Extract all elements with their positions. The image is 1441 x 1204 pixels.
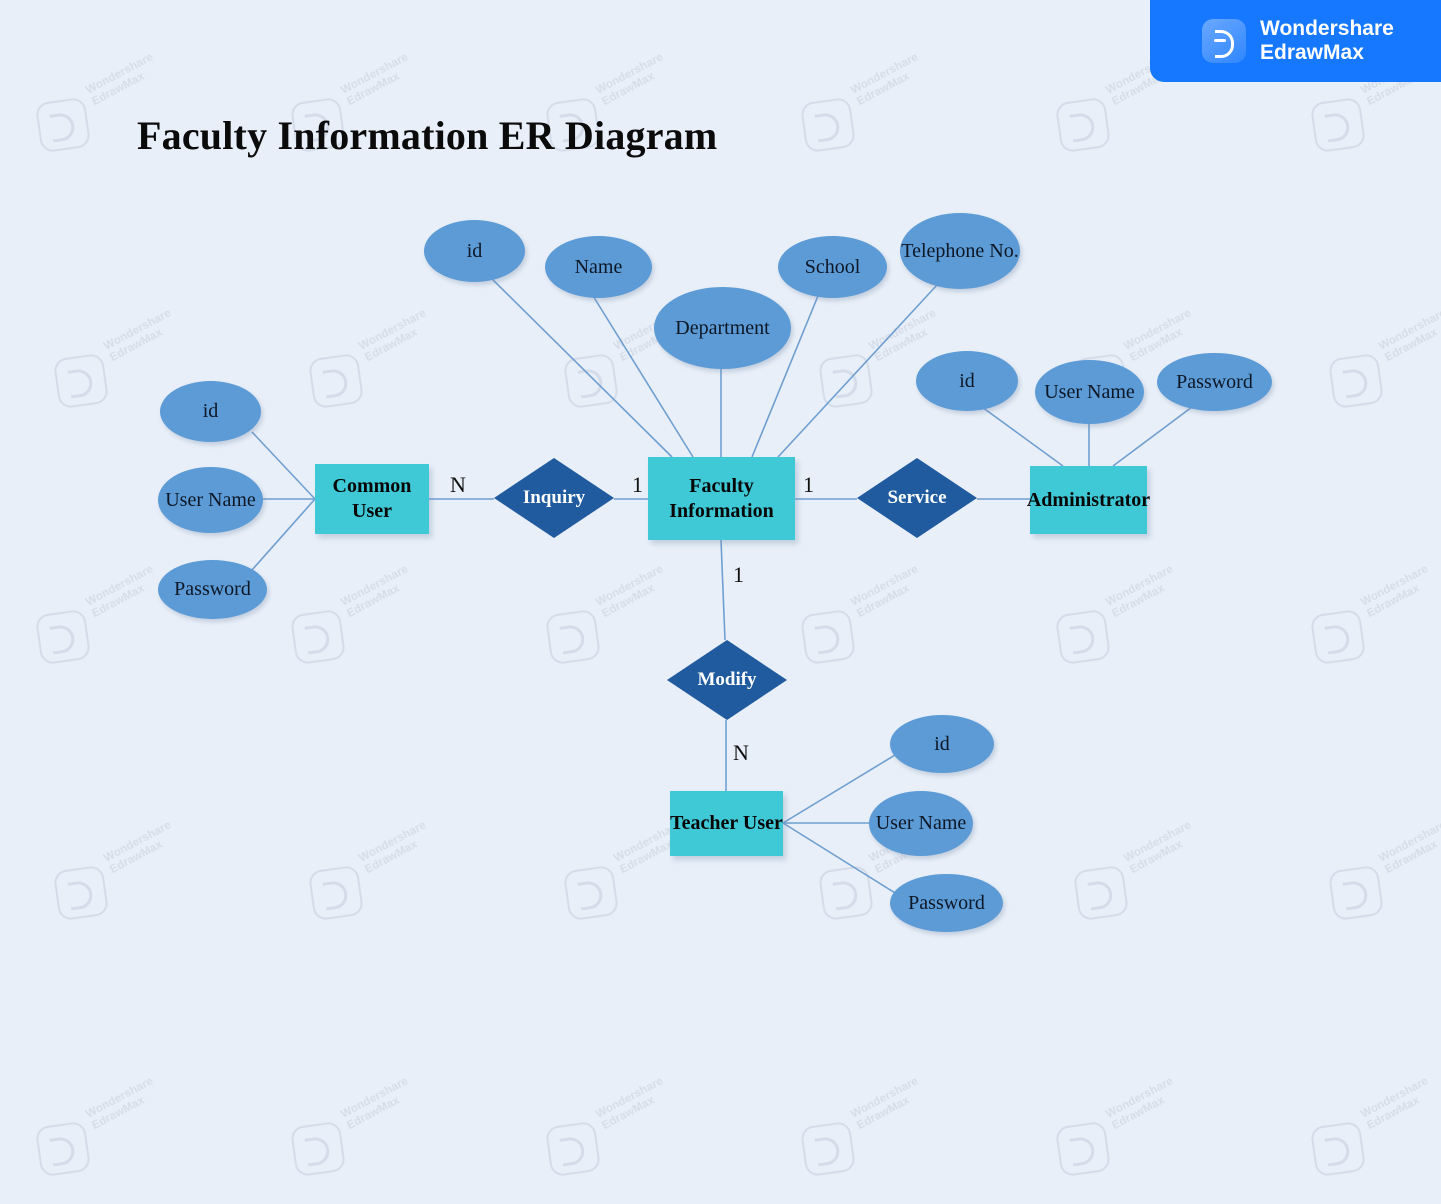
attribute-label: Password: [174, 578, 251, 601]
attribute-ad-user[interactable]: User Name: [1035, 360, 1144, 424]
connector-line: [487, 274, 672, 457]
cardinality-label: 1: [733, 562, 744, 588]
entity-teacher-user[interactable]: Teacher User: [670, 791, 783, 856]
attribute-tu-user[interactable]: User Name: [869, 791, 973, 856]
edrawmax-watermark-icon: [1055, 1121, 1111, 1177]
connector-layer: [0, 0, 1441, 1116]
edrawmax-watermark-icon: [1310, 1121, 1366, 1177]
attribute-fi-dept[interactable]: Department: [654, 287, 791, 369]
attribute-label: Password: [1176, 371, 1253, 394]
relationship-label: Modify: [697, 669, 756, 691]
attribute-label: id: [934, 733, 950, 756]
cardinality-label: 1: [803, 472, 814, 498]
brand-name: Wondershare EdrawMax: [1260, 17, 1394, 65]
attribute-label: id: [203, 400, 219, 423]
relationship-label: Inquiry: [523, 487, 585, 509]
attribute-label: User Name: [876, 812, 967, 835]
attribute-label: Password: [908, 892, 985, 915]
attribute-label: User Name: [1044, 381, 1135, 404]
connector-line: [778, 285, 937, 457]
edrawmax-watermark-icon: [800, 1121, 856, 1177]
attribute-fi-school[interactable]: School: [778, 236, 887, 298]
entity-label: Administrator: [1027, 488, 1150, 513]
attribute-cu-pass[interactable]: Password: [158, 560, 267, 619]
attribute-label: Telephone No.: [901, 240, 1018, 263]
attribute-fi-id[interactable]: id: [424, 220, 525, 282]
attribute-ad-id[interactable]: id: [916, 351, 1018, 411]
connector-line: [252, 499, 315, 570]
cardinality-label: 1: [632, 472, 643, 498]
relationship-label: Service: [887, 487, 946, 509]
cardinality-label: N: [733, 740, 749, 766]
edrawmax-watermark-icon: [35, 1121, 91, 1177]
attribute-label: User Name: [165, 489, 256, 512]
brand-name-line2: EdrawMax: [1260, 41, 1394, 65]
attribute-cu-id[interactable]: id: [160, 381, 261, 442]
attribute-tu-pass[interactable]: Password: [890, 874, 1003, 932]
attribute-label: School: [805, 256, 861, 279]
entity-label: Common User: [315, 474, 429, 524]
entity-administrator[interactable]: Administrator: [1030, 466, 1147, 534]
brand-name-line1: Wondershare: [1260, 17, 1394, 41]
entity-common-user[interactable]: Common User: [315, 464, 429, 534]
edrawmax-watermark-icon: [545, 1121, 601, 1177]
attribute-label: Name: [575, 256, 623, 279]
attribute-fi-phone[interactable]: Telephone No.: [900, 213, 1020, 289]
attribute-label: id: [467, 240, 483, 263]
wondershare-edrawmax-badge: Wondershare EdrawMax: [1150, 0, 1441, 82]
page-title: Faculty Information ER Diagram: [137, 112, 717, 159]
connector-line: [721, 540, 725, 640]
cardinality-label: N: [450, 472, 466, 498]
edrawmax-watermark-icon: [290, 1121, 346, 1177]
entity-label: Faculty Information: [648, 474, 795, 524]
attribute-label: Department: [675, 317, 769, 340]
attribute-ad-pass[interactable]: Password: [1157, 353, 1272, 411]
entity-label: Teacher User: [670, 811, 783, 836]
attribute-label: id: [959, 370, 975, 393]
connector-line: [252, 432, 315, 499]
attribute-cu-user[interactable]: User Name: [158, 467, 263, 533]
edrawmax-logo-icon: [1202, 19, 1246, 63]
er-diagram-canvas: idNameDepartmentSchoolTelephone No.idUse…: [0, 0, 1441, 1116]
attribute-fi-name[interactable]: Name: [545, 236, 652, 298]
entity-faculty-info[interactable]: Faculty Information: [648, 457, 795, 540]
attribute-tu-id[interactable]: id: [890, 715, 994, 773]
